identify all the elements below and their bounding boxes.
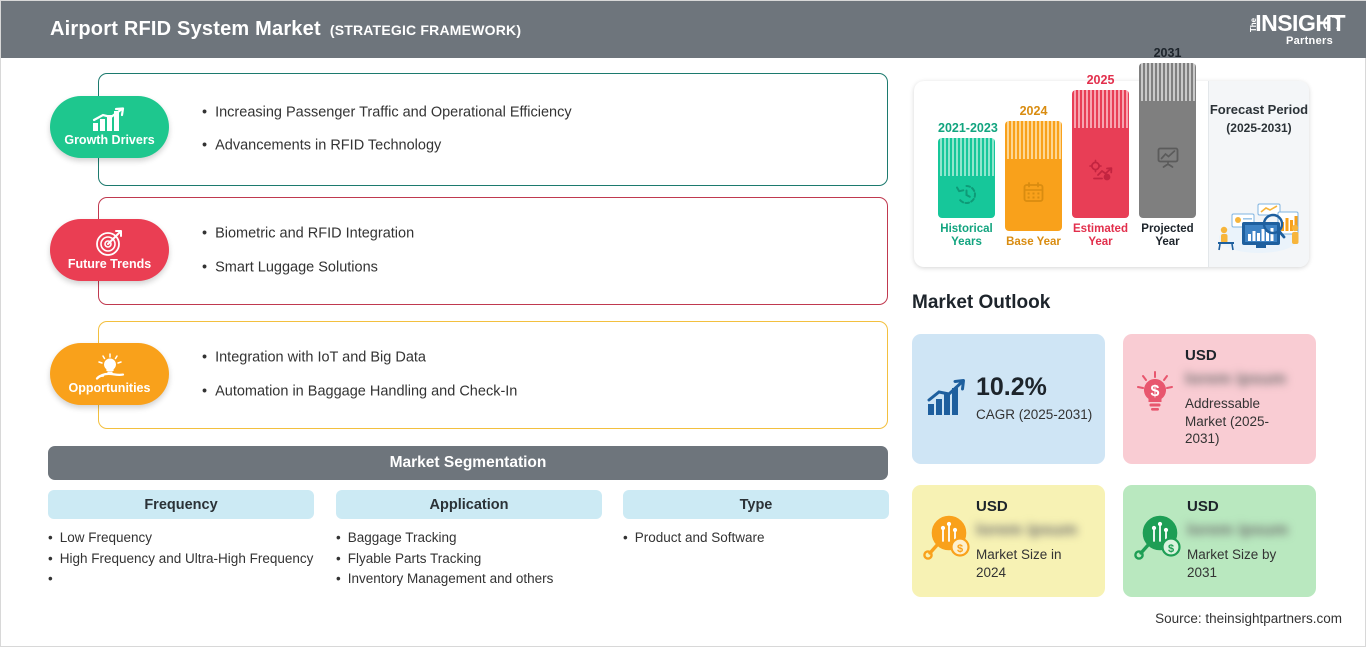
bullet-item: •Biometric and RFID Integration bbox=[202, 224, 842, 244]
lightbulb-hand-icon bbox=[93, 353, 127, 381]
list-item: •Flyable Parts Tracking bbox=[336, 549, 602, 570]
card-addressable-text: USD lorem ipsum Addressable Market (2025… bbox=[1185, 348, 1290, 448]
list-item-text: Baggage Tracking bbox=[348, 528, 457, 549]
bullet-dot-icon: • bbox=[202, 224, 207, 244]
bar-year-label: 2025 bbox=[1072, 73, 1129, 87]
panel-growth-drivers-bullets: •Increasing Passenger Traffic and Operat… bbox=[202, 103, 842, 156]
magnifier-chart-dollar-icon: $ bbox=[1133, 513, 1183, 561]
market-segmentation-header: Market Segmentation bbox=[48, 446, 888, 480]
card-market-size-2024-label: Market Size in 2024 bbox=[976, 546, 1084, 581]
forecast-bars: 2021-2023 Historical Years bbox=[924, 81, 1189, 267]
pill-growth-drivers[interactable]: Growth Drivers bbox=[50, 96, 169, 158]
segmentation-list: •Low Frequency •High Frequency and Ultra… bbox=[48, 528, 314, 590]
bullet-dot-icon: • bbox=[202, 137, 207, 157]
segmentation-chip-frequency: Frequency bbox=[48, 490, 314, 519]
bar-projected-year: 2031 Projected Year bbox=[1139, 46, 1196, 249]
bar-solid bbox=[1005, 159, 1062, 231]
card-market-size-2031-label: Market Size by 2031 bbox=[1187, 546, 1295, 581]
card-cagr-label: CAGR (2025-2031) bbox=[976, 406, 1092, 424]
bullet-dot-icon: • bbox=[336, 569, 341, 590]
bar-shape bbox=[938, 138, 995, 218]
pill-label: Growth Drivers bbox=[64, 134, 154, 147]
card-market-size-2024-usd: USD bbox=[976, 499, 1084, 514]
logo-arc-icon bbox=[1323, 15, 1340, 32]
analytics-gear-icon bbox=[1088, 158, 1114, 188]
list-item-text: Product and Software bbox=[635, 528, 765, 549]
bar-stripes bbox=[938, 138, 995, 176]
segmentation-list: •Baggage Tracking •Flyable Parts Trackin… bbox=[336, 528, 602, 590]
bar-shape bbox=[1139, 63, 1196, 218]
market-outlook-title: Market Outlook bbox=[912, 292, 1050, 314]
page-subtitle: (STRATEGIC FRAMEWORK) bbox=[330, 22, 521, 38]
source-text: Source: theinsightpartners.com bbox=[1155, 611, 1342, 626]
segmentation-column-frequency: Frequency •Low Frequency •High Frequency… bbox=[48, 490, 314, 590]
bar-solid bbox=[1072, 128, 1129, 218]
list-item: • bbox=[48, 569, 314, 590]
list-item-text: Inventory Management and others bbox=[348, 569, 554, 590]
card-addressable-market: $ USD lorem ipsum Addressable Market (20… bbox=[1123, 334, 1316, 464]
segmentation-list: •Product and Software bbox=[623, 528, 889, 549]
card-addressable-value: lorem ipsum bbox=[1185, 370, 1290, 387]
bar-stripes bbox=[1072, 90, 1129, 128]
segmentation-chip-type: Type bbox=[623, 490, 889, 519]
pill-opportunities[interactable]: Opportunities bbox=[50, 343, 169, 405]
card-market-size-2031-usd: USD bbox=[1187, 499, 1295, 514]
forecast-period-range: (2025-2031) bbox=[1226, 121, 1291, 135]
bar-solid bbox=[938, 176, 995, 218]
list-item-text: Low Frequency bbox=[60, 528, 152, 549]
bullet-item: •Smart Luggage Solutions bbox=[202, 258, 842, 278]
bullet-dot-icon: • bbox=[336, 528, 341, 549]
bullet-item: •Increasing Passenger Traffic and Operat… bbox=[202, 103, 842, 123]
list-item: •Low Frequency bbox=[48, 528, 314, 549]
bullet-dot-icon: • bbox=[202, 382, 207, 402]
calendar-icon bbox=[1021, 180, 1046, 210]
bullet-item: •Integration with IoT and Big Data bbox=[202, 348, 842, 368]
panel-opportunities: •Integration with IoT and Big Data •Auto… bbox=[98, 321, 888, 429]
page-title: Airport RFID System Market bbox=[50, 18, 321, 41]
header-title-wrap: Airport RFID System Market (STRATEGIC FR… bbox=[50, 18, 521, 41]
bar-estimated-year: 2025 bbox=[1072, 73, 1129, 249]
card-cagr: 10.2% CAGR (2025-2031) bbox=[912, 334, 1105, 464]
data-analysis-illustration-icon bbox=[1212, 192, 1306, 259]
insight-partners-logo: The INSIGHT Partners bbox=[1215, 8, 1345, 52]
bullet-dot-icon: • bbox=[202, 348, 207, 368]
bar-year-label: 2031 bbox=[1139, 46, 1196, 60]
card-market-size-2024-value: lorem ipsum bbox=[976, 521, 1084, 538]
card-cagr-text: 10.2% CAGR (2025-2031) bbox=[976, 375, 1092, 424]
magnifier-chart-dollar-icon: $ bbox=[922, 513, 972, 561]
logo-the-text: The bbox=[1250, 18, 1258, 32]
bullet-text: Increasing Passenger Traffic and Operati… bbox=[215, 103, 572, 123]
card-market-size-2031-text: USD lorem ipsum Market Size by 2031 bbox=[1187, 499, 1295, 581]
card-addressable-label: Addressable Market (2025-2031) bbox=[1185, 395, 1290, 448]
card-cagr-value: 10.2% bbox=[976, 375, 1092, 400]
bullet-text: Integration with IoT and Big Data bbox=[215, 348, 426, 368]
list-item-text: Flyable Parts Tracking bbox=[348, 549, 482, 570]
market-segmentation-title: Market Segmentation bbox=[390, 454, 547, 472]
bullet-dot-icon: • bbox=[48, 569, 53, 590]
bullet-item: •Automation in Baggage Handling and Chec… bbox=[202, 382, 842, 402]
bullet-dot-icon: • bbox=[623, 528, 628, 549]
svg-text:$: $ bbox=[1151, 383, 1160, 400]
card-market-size-2031: $ USD lorem ipsum Market Size by 2031 bbox=[1123, 485, 1316, 597]
bullet-text: Advancements in RFID Technology bbox=[215, 137, 441, 157]
segmentation-chip-application: Application bbox=[336, 490, 602, 519]
pill-label: Future Trends bbox=[68, 258, 151, 271]
bullet-dot-icon: • bbox=[48, 528, 53, 549]
bar-solid bbox=[1139, 101, 1196, 218]
panel-future-trends-bullets: •Biometric and RFID Integration •Smart L… bbox=[202, 224, 842, 277]
list-item: •Baggage Tracking bbox=[336, 528, 602, 549]
bar-stripes bbox=[1139, 63, 1196, 101]
panel-opportunities-bullets: •Integration with IoT and Big Data •Auto… bbox=[202, 348, 842, 401]
target-dart-icon bbox=[95, 229, 125, 257]
list-item: •Inventory Management and others bbox=[336, 569, 602, 590]
forecast-period-label: Forecast Period bbox=[1210, 101, 1308, 118]
bar-shape bbox=[1072, 90, 1129, 218]
panel-future-trends: •Biometric and RFID Integration •Smart L… bbox=[98, 197, 888, 305]
segmentation-chip-label: Application bbox=[430, 497, 509, 513]
infographic-page: Airport RFID System Market (STRATEGIC FR… bbox=[0, 0, 1366, 647]
bar-year-label: 2024 bbox=[1005, 104, 1062, 118]
presentation-chart-icon bbox=[1155, 144, 1181, 174]
bullet-dot-icon: • bbox=[336, 549, 341, 570]
bullet-dot-icon: • bbox=[202, 103, 207, 123]
panel-growth-drivers: •Increasing Passenger Traffic and Operat… bbox=[98, 73, 888, 186]
bullet-dot-icon: • bbox=[48, 549, 53, 570]
list-item: •Product and Software bbox=[623, 528, 889, 549]
list-item: •High Frequency and Ultra-High Frequency bbox=[48, 549, 314, 570]
forecast-period-panel: Forecast Period (2025-2031) bbox=[1208, 81, 1309, 267]
bullet-text: Biometric and RFID Integration bbox=[215, 224, 414, 244]
bar-chart-growth-icon bbox=[91, 107, 129, 133]
segmentation-column-application: Application •Baggage Tracking •Flyable P… bbox=[336, 490, 602, 590]
card-market-size-2024-text: USD lorem ipsum Market Size in 2024 bbox=[976, 499, 1084, 581]
bar-chart-arrow-icon bbox=[924, 378, 970, 420]
clock-history-icon bbox=[954, 182, 979, 212]
bullet-dot-icon: • bbox=[202, 258, 207, 278]
bar-caption: Projected Year bbox=[1139, 223, 1196, 249]
card-market-size-2024: $ USD lorem ipsum Market Size in 2024 bbox=[912, 485, 1105, 597]
bar-year-label: 2021-2023 bbox=[938, 121, 995, 135]
list-item-text: High Frequency and Ultra-High Frequency bbox=[60, 549, 314, 570]
card-market-size-2031-value: lorem ipsum bbox=[1187, 521, 1295, 538]
svg-text:$: $ bbox=[957, 543, 963, 555]
lightbulb-dollar-icon: $ bbox=[1133, 370, 1177, 416]
bar-caption: Historical Years bbox=[938, 223, 995, 249]
bar-base-year: 2024 bbox=[1005, 104, 1062, 249]
bullet-text: Smart Luggage Solutions bbox=[215, 258, 378, 278]
logo-partners-text: Partners bbox=[1286, 35, 1333, 47]
segmentation-chip-label: Type bbox=[740, 497, 773, 513]
bar-caption: Base Year bbox=[1005, 236, 1062, 249]
segmentation-column-type: Type •Product and Software bbox=[623, 490, 889, 549]
segmentation-chip-label: Frequency bbox=[144, 497, 217, 513]
bar-shape bbox=[1005, 121, 1062, 231]
svg-text:$: $ bbox=[1168, 543, 1174, 555]
bullet-text: Automation in Baggage Handling and Check… bbox=[215, 382, 517, 402]
pill-label: Opportunities bbox=[69, 382, 151, 395]
card-addressable-usd: USD bbox=[1185, 348, 1290, 363]
bar-stripes bbox=[1005, 121, 1062, 159]
forecast-period-card: 2021-2023 Historical Years bbox=[914, 81, 1309, 267]
pill-future-trends[interactable]: Future Trends bbox=[50, 219, 169, 281]
bar-caption: Estimated Year bbox=[1072, 223, 1129, 249]
bullet-item: •Advancements in RFID Technology bbox=[202, 137, 842, 157]
bar-historical-years: 2021-2023 Historical Years bbox=[938, 121, 995, 249]
